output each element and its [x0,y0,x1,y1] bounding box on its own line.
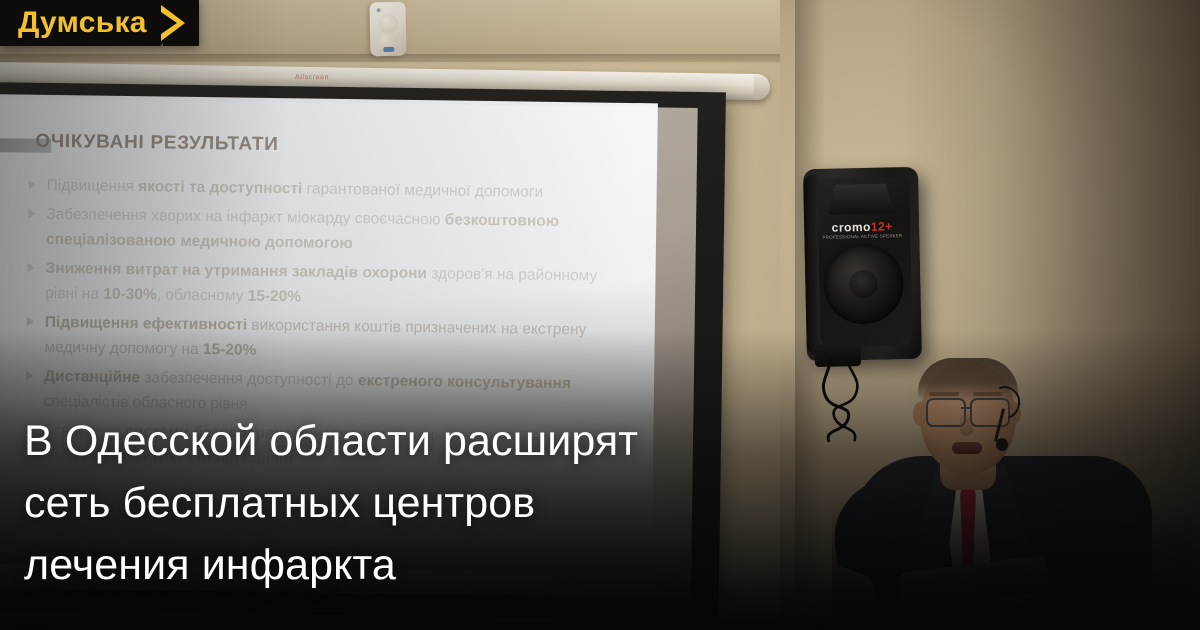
bullet-text-run: гарантованої медичної допомоги [302,180,543,200]
headline-line-3: лечения инфаркта [24,534,844,596]
bullet-triangle-icon [26,371,33,381]
slide-bullet-item: Забезпечення хворих на інфаркт міокарду … [26,202,627,260]
speaker-led-badge [383,47,394,52]
bullet-text-run: Підвищення ефективності [45,314,247,334]
slide-bullet-item: Зниження витрат на утримання закладів ох… [25,256,626,314]
site-logo[interactable]: Думська [0,0,199,46]
bullet-text-run: Зниження витрат на утримання закладів ох… [45,260,427,282]
pa-speaker-horn [827,183,894,214]
screen-brand-label: Allscreen [295,74,329,82]
bullet-triangle-icon [29,180,36,190]
news-article-hero-image: Allscreen ОЧІКУВАНІ РЕЗУЛЬТАТИ Підвищенн… [0,0,1200,630]
slide-bullet-item: Підвищення ефективності використання кош… [24,310,625,368]
speaker-driver-upper [379,14,398,33]
headline: В Одесской области расширят сеть бесплат… [24,410,844,596]
pa-brand-name: cromo [832,220,871,235]
bullet-triangle-icon [28,209,35,219]
bullet-text-run: 10-30% [103,286,157,304]
bullet-triangle-icon [28,263,35,273]
logo-text: Думська [18,8,147,38]
ceiling-speaker-icon [370,2,407,57]
headline-line-2: сеть бесплатных центров [24,472,844,534]
headset-mic-capsule [996,438,1008,451]
bullet-text-run: Підвищення [47,177,139,195]
presenter-mouth [952,442,982,454]
bullet-text-run: , обласному [157,286,248,304]
chevron-right-icon [163,0,199,46]
bullet-text-run: якості та доступності [138,178,302,197]
pa-speaker: cromo12+ PROFESSIONAL ACTIVE SPEAKER [803,167,922,361]
presenter [872,352,1200,630]
headline-line-1: В Одесской области расширят [24,410,844,472]
bullet-text-run: екстреного консультування [358,372,571,392]
pa-model-name: 12+ [871,219,893,233]
presenter-glasses-bridge [961,407,972,409]
speaker-indicator-dot [377,8,381,12]
bullet-text-run: забезпечення доступності до [140,369,358,389]
logo-plate: Думська [0,0,163,46]
bullet-triangle-icon [27,317,34,327]
slide-title: ОЧІКУВАНІ РЕЗУЛЬТАТИ [35,131,279,156]
presenter-ear-left [913,402,927,426]
presenter-nose [960,414,973,436]
bullet-text-run: Дистанційне [44,368,140,386]
bullet-text-run: 15-20% [203,341,257,359]
bullet-text-run: Забезпечення хворих на інфаркт міокарду … [46,206,445,229]
ceiling-shadow [0,54,820,64]
bullet-text-run: 15-20% [248,288,302,306]
slide-bullet-item: Підвищення якості та доступності гаранто… [27,173,627,206]
presenter-eyebrow-left [929,392,959,396]
